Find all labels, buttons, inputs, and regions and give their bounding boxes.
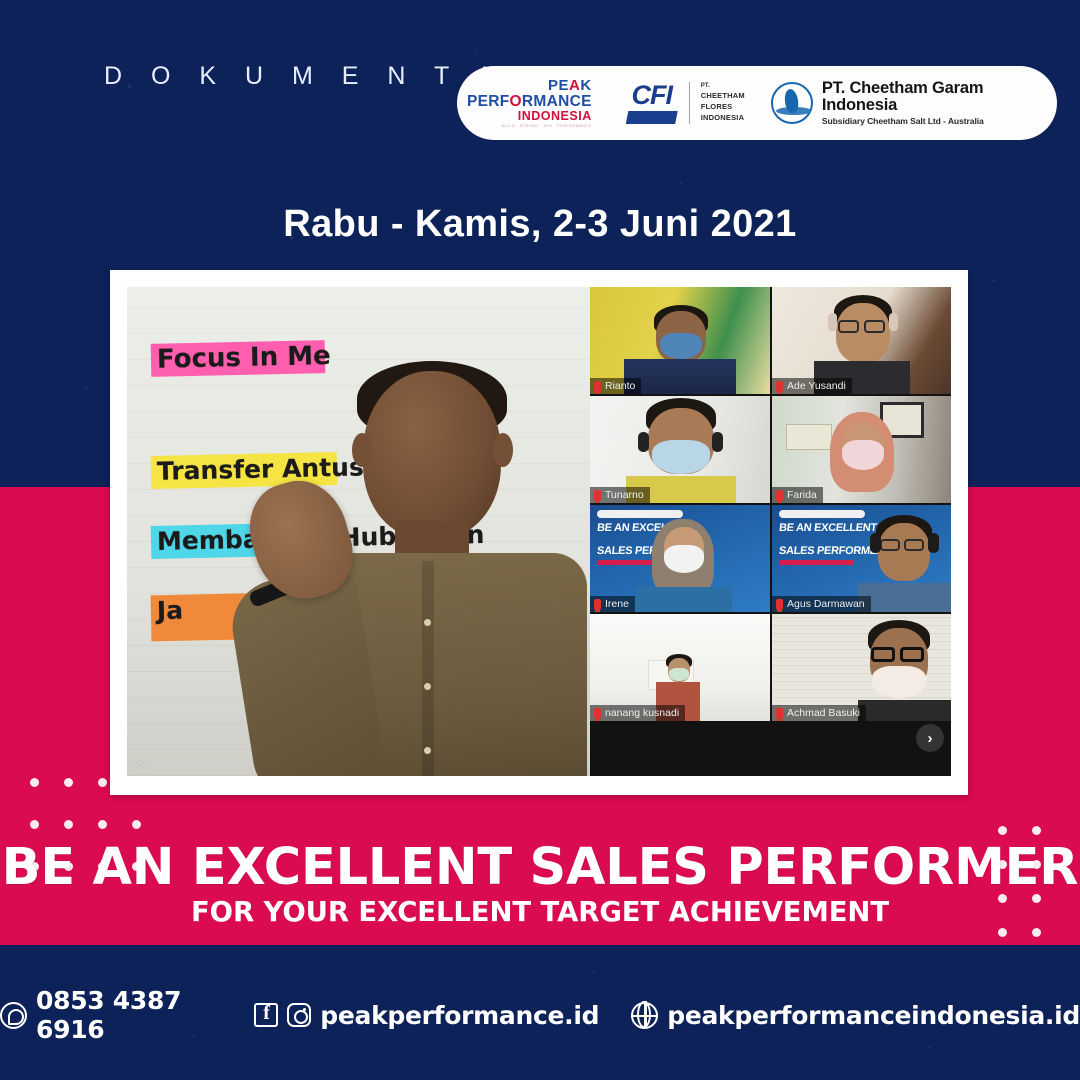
next-page-button[interactable]: › [916, 724, 944, 752]
contact-footer: 0853 4387 6916 peakperformance.id peakpe… [0, 990, 1080, 1040]
participant-tile[interactable]: Tunarno [590, 396, 770, 503]
grid-dot [64, 778, 73, 787]
phone-number: 0853 4387 6916 [36, 986, 217, 1044]
globe-icon [631, 1002, 658, 1029]
grid-dot [998, 928, 1007, 937]
cfi-logo: CFI PT. CHEETHAM FLORES INDONESIA [626, 82, 745, 124]
resize-handle-icon[interactable] [135, 760, 145, 770]
mic-muted-icon [776, 490, 783, 501]
participant-tile[interactable]: BE AN EXCELLENT SALES PERFORMER Irene [590, 505, 770, 612]
participant-name-bar: Agus Darmawan [772, 596, 871, 612]
facebook-icon [254, 1003, 278, 1027]
social-handle: peakperformance.id [320, 1001, 599, 1030]
participant-grid: Rianto Ade Yusandi Tunarno Farida BE AN … [590, 287, 951, 776]
grid-dot [998, 826, 1007, 835]
cfi-l3: FLORES [701, 102, 745, 113]
participant-name-bar: Irene [590, 596, 635, 612]
photo-frame: Focus In Me Transfer Antusiasme Membangu… [110, 270, 968, 795]
cfi-company-lines: PT. CHEETHAM FLORES INDONESIA [701, 82, 745, 123]
cheetham-logo: PT. Cheetham Garam Indonesia Subsidiary … [771, 80, 1057, 127]
participant-name: Tunarno [605, 487, 644, 503]
virtual-bg-line1: BE AN EXCELLENT [778, 522, 877, 534]
participant-tile[interactable]: BE AN EXCELLENT SALES PERFORMER Agus Dar… [772, 505, 951, 612]
participant-tile[interactable]: Rianto [590, 287, 770, 394]
website-url: peakperformanceindonesia.id [667, 1001, 1080, 1030]
participant-name: Farida [787, 487, 817, 503]
participant-name-bar: Ade Yusandi [772, 378, 852, 394]
cfi-bar-shape [626, 111, 678, 124]
whatsapp-contact[interactable]: 0853 4387 6916 [0, 986, 217, 1044]
event-date: Rabu - Kamis, 2-3 Juni 2021 [0, 203, 1080, 246]
cfi-monogram: CFI [631, 82, 672, 109]
page-title: BE AN EXCELLENT SALES PERFORMER [0, 838, 1080, 897]
mic-muted-icon [594, 490, 601, 501]
participant-name: Ade Yusandi [787, 378, 846, 394]
cheetham-sub: Subsidiary Cheetham Salt Ltd - Australia [822, 116, 1057, 126]
social-contact[interactable]: peakperformance.id [254, 1001, 599, 1030]
participant-name: Achmad Basuki [787, 705, 860, 721]
mic-muted-icon [594, 381, 601, 392]
cfi-l4: INDONESIA [701, 113, 745, 124]
pp-line2: PERFORMANCE [467, 94, 592, 110]
pp-line3: INDONESIA [518, 110, 592, 123]
pp-tagline: BUILD . STRONG . WIN . PERFORMANCE [501, 125, 591, 129]
grid-dot [1032, 826, 1041, 835]
mic-muted-icon [776, 708, 783, 719]
grid-dot [30, 778, 39, 787]
participant-name-bar: Rianto [590, 378, 641, 394]
partner-logo-bar: PEAK PERFORMANCE INDONESIA BUILD . STRON… [457, 66, 1057, 140]
pp-line1: PEAK [548, 78, 592, 93]
mic-muted-icon [776, 381, 783, 392]
speaker-figure [247, 361, 590, 776]
participant-tile[interactable]: Achmad Basuki [772, 614, 951, 721]
participant-tile[interactable]: Ade Yusandi [772, 287, 951, 394]
participant-name-bar: nanang kusnadi [590, 705, 685, 721]
website-contact[interactable]: peakperformanceindonesia.id [631, 1001, 1080, 1030]
participant-tile[interactable]: nanang kusnadi [590, 614, 770, 721]
cfi-l1: PT. [701, 82, 745, 91]
grid-dot [98, 820, 107, 829]
speaker-ear-left [352, 433, 372, 467]
peak-performance-logo: PEAK PERFORMANCE INDONESIA BUILD . STRON… [457, 78, 592, 129]
cfi-l2: CHEETHAM [701, 91, 745, 102]
participant-name: Rianto [605, 378, 635, 394]
participant-name: Irene [605, 596, 629, 612]
shirt-button [424, 747, 431, 754]
zoom-screenshot: Focus In Me Transfer Antusiasme Membangu… [127, 287, 951, 776]
participant-name-bar: Tunarno [590, 487, 650, 503]
shirt-button [424, 683, 431, 690]
grid-dot [98, 778, 107, 787]
cfi-divider [689, 82, 690, 124]
mic-muted-icon [594, 599, 601, 610]
grid-dot [64, 820, 73, 829]
participant-name: nanang kusnadi [605, 705, 679, 721]
grid-dot [30, 820, 39, 829]
grid-dot [1032, 928, 1041, 937]
instagram-icon [287, 1003, 311, 1027]
participant-name-bar: Achmad Basuki [772, 705, 866, 721]
participant-tile[interactable]: Farida [772, 396, 951, 503]
speaker-video-pane: Focus In Me Transfer Antusiasme Membangu… [127, 287, 590, 776]
mic-muted-icon [594, 708, 601, 719]
shirt-placket [422, 561, 434, 776]
participant-name-bar: Farida [772, 487, 823, 503]
shirt-button [424, 619, 431, 626]
participant-name: Agus Darmawan [787, 596, 865, 612]
speaker-head [363, 371, 501, 539]
page-subtitle: FOR YOUR EXCELLENT TARGET ACHIEVEMENT [0, 896, 1080, 928]
cheetham-seahorse-icon [771, 82, 813, 124]
whatsapp-icon [0, 1002, 27, 1029]
grid-dot [132, 820, 141, 829]
speaker-ear-right [493, 433, 513, 467]
cheetham-name: PT. Cheetham Garam Indonesia [822, 80, 1057, 115]
mic-muted-icon [776, 599, 783, 610]
poster-canvas: D O K U M E N T A S I PEAK PERFORMANCE I… [0, 0, 1080, 1080]
